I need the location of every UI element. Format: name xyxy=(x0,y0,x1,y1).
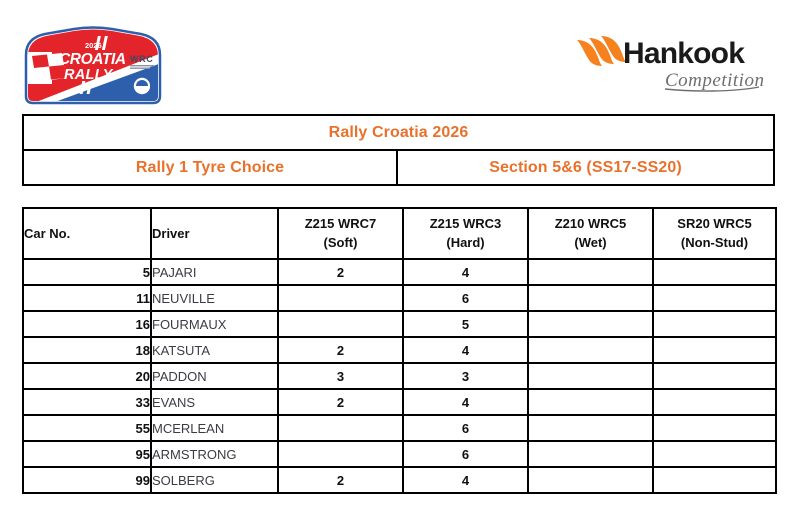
cell-driver: ARMSTRONG xyxy=(151,441,278,467)
hankook-logo: Hankook Competition xyxy=(573,30,778,100)
cell-car-no: 99 xyxy=(23,467,151,493)
cell-driver: PADDON xyxy=(151,363,278,389)
tyre-choice-table: Car No. Driver Z215 WRC7 (Soft) Z215 WRC… xyxy=(22,207,777,494)
header-car-no: Car No. xyxy=(23,208,151,259)
table-row: 55MCERLEAN6 xyxy=(23,415,776,441)
cell-driver: PAJARI xyxy=(151,259,278,285)
table-row: 18KATSUTA24 xyxy=(23,337,776,363)
cell-qty-wet xyxy=(528,311,653,337)
cell-qty-soft: 3 xyxy=(278,363,403,389)
cell-qty-nonstud xyxy=(653,337,776,363)
cell-qty-wet xyxy=(528,415,653,441)
cell-car-no: 55 xyxy=(23,415,151,441)
hankook-logo-graphic: Hankook Competition xyxy=(573,30,778,100)
cell-qty-wet xyxy=(528,337,653,363)
cell-qty-nonstud xyxy=(653,259,776,285)
cell-qty-wet xyxy=(528,363,653,389)
header-tyre-hard-code: Z215 WRC3 xyxy=(404,215,527,234)
cell-driver: SOLBERG xyxy=(151,467,278,493)
cell-car-no: 16 xyxy=(23,311,151,337)
cell-driver: KATSUTA xyxy=(151,337,278,363)
header-tyre-nonstud-type: (Non-Stud) xyxy=(654,234,775,253)
cell-qty-hard: 4 xyxy=(403,467,528,493)
cell-qty-hard: 6 xyxy=(403,441,528,467)
croatia-rally-logo: 2026 CROATIA RALLY WRC xyxy=(22,26,164,106)
cell-qty-nonstud xyxy=(653,441,776,467)
cell-qty-soft xyxy=(278,285,403,311)
cell-qty-soft xyxy=(278,311,403,337)
cell-qty-soft: 2 xyxy=(278,259,403,285)
header-tyre-hard: Z215 WRC3 (Hard) xyxy=(403,208,528,259)
table-row: 99SOLBERG24 xyxy=(23,467,776,493)
cell-car-no: 5 xyxy=(23,259,151,285)
cell-qty-soft xyxy=(278,415,403,441)
cell-driver: MCERLEAN xyxy=(151,415,278,441)
table-row: 33EVANS24 xyxy=(23,389,776,415)
cell-qty-wet xyxy=(528,441,653,467)
table-row: 11NEUVILLE6 xyxy=(23,285,776,311)
header-tyre-nonstud-code: SR20 WRC5 xyxy=(654,215,775,234)
table-row: 16FOURMAUX5 xyxy=(23,311,776,337)
header-tyre-wet-code: Z210 WRC5 xyxy=(529,215,652,234)
cell-qty-hard: 6 xyxy=(403,285,528,311)
section-title: Section 5&6 (SS17-SS20) xyxy=(398,151,773,184)
cell-qty-hard: 3 xyxy=(403,363,528,389)
cell-qty-hard: 4 xyxy=(403,389,528,415)
header-tyre-soft-code: Z215 WRC7 xyxy=(279,215,402,234)
hankook-wordmark: Hankook xyxy=(623,37,745,70)
cell-qty-hard: 6 xyxy=(403,415,528,441)
cell-driver: NEUVILLE xyxy=(151,285,278,311)
croatia-rally-logo-graphic: 2026 CROATIA RALLY WRC xyxy=(22,26,164,106)
cell-driver: FOURMAUX xyxy=(151,311,278,337)
cell-qty-wet xyxy=(528,467,653,493)
event-title: Rally Croatia 2026 xyxy=(24,116,773,149)
title-block: Rally Croatia 2026 Rally 1 Tyre Choice S… xyxy=(22,114,775,186)
cell-qty-soft: 2 xyxy=(278,337,403,363)
header-driver: Driver xyxy=(151,208,278,259)
cell-qty-nonstud xyxy=(653,389,776,415)
table-header-row: Car No. Driver Z215 WRC7 (Soft) Z215 WRC… xyxy=(23,208,776,259)
table-row: 5PAJARI24 xyxy=(23,259,776,285)
header-tyre-hard-type: (Hard) xyxy=(404,234,527,253)
table-body: 5PAJARI2411NEUVILLE616FOURMAUX518KATSUTA… xyxy=(23,259,776,493)
cell-qty-wet xyxy=(528,259,653,285)
category-title: Rally 1 Tyre Choice xyxy=(24,151,398,184)
logo-line-rally: RALLY xyxy=(64,67,114,83)
table-row: 20PADDON33 xyxy=(23,363,776,389)
header-tyre-soft-type: (Soft) xyxy=(279,234,402,253)
cell-qty-nonstud xyxy=(653,363,776,389)
cell-car-no: 33 xyxy=(23,389,151,415)
logo-line-croatia: CROATIA xyxy=(59,51,126,68)
cell-driver: EVANS xyxy=(151,389,278,415)
header-tyre-wet-type: (Wet) xyxy=(529,234,652,253)
header-tyre-nonstud: SR20 WRC5 (Non-Stud) xyxy=(653,208,776,259)
cell-qty-nonstud xyxy=(653,467,776,493)
cell-qty-nonstud xyxy=(653,311,776,337)
header-tyre-wet: Z210 WRC5 (Wet) xyxy=(528,208,653,259)
cell-car-no: 20 xyxy=(23,363,151,389)
table-header: Car No. Driver Z215 WRC7 (Soft) Z215 WRC… xyxy=(23,208,776,259)
cell-qty-hard: 4 xyxy=(403,259,528,285)
cell-qty-wet xyxy=(528,285,653,311)
cell-qty-hard: 5 xyxy=(403,311,528,337)
cell-car-no: 95 xyxy=(23,441,151,467)
cell-qty-soft xyxy=(278,441,403,467)
cell-car-no: 18 xyxy=(23,337,151,363)
header-tyre-soft: Z215 WRC7 (Soft) xyxy=(278,208,403,259)
cell-qty-nonstud xyxy=(653,415,776,441)
cell-qty-nonstud xyxy=(653,285,776,311)
cell-qty-hard: 4 xyxy=(403,337,528,363)
title-row-event: Rally Croatia 2026 xyxy=(24,116,773,151)
svg-text:WRC: WRC xyxy=(130,54,153,64)
cell-car-no: 11 xyxy=(23,285,151,311)
title-row-subtitles: Rally 1 Tyre Choice Section 5&6 (SS17-SS… xyxy=(24,151,773,184)
table-row: 95ARMSTRONG6 xyxy=(23,441,776,467)
hankook-swoosh-icon xyxy=(577,36,626,66)
cell-qty-soft: 2 xyxy=(278,389,403,415)
cell-qty-wet xyxy=(528,389,653,415)
cell-qty-soft: 2 xyxy=(278,467,403,493)
